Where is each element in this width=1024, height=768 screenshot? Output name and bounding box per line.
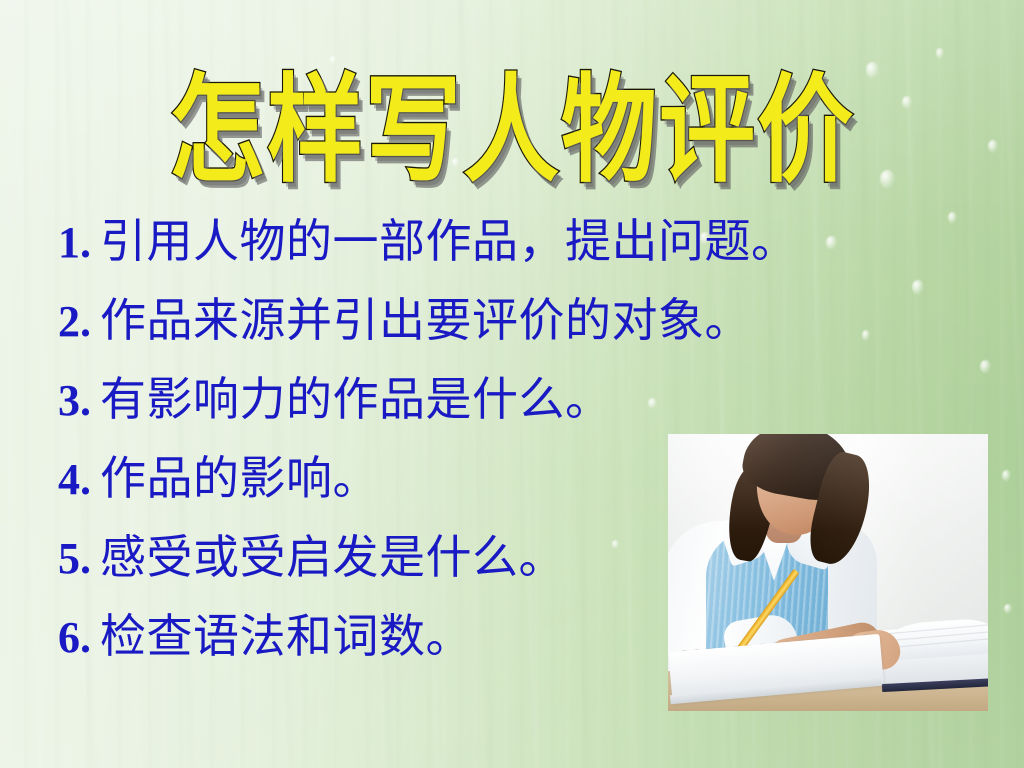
- list-item-text: 有影响力的作品是什么。: [100, 376, 612, 422]
- presentation-slide: 怎样写人物评价 1. 引用人物的一部作品，提出问题。 2. 作品来源并引出要评价…: [0, 0, 1024, 768]
- list-item-number: 3.: [58, 379, 91, 423]
- list-item-number: 5.: [58, 537, 91, 581]
- list-item: 1. 引用人物的一部作品，提出问题。: [58, 218, 958, 297]
- list-item-number: 2.: [58, 300, 91, 344]
- student-writing-photo: [668, 434, 988, 711]
- list-item-text: 引用人物的一部作品，提出问题。: [100, 218, 798, 264]
- list-item-text: 作品的影响。: [100, 455, 379, 501]
- list-item-number: 4.: [58, 458, 91, 502]
- photo-top-highlight: [668, 434, 988, 711]
- list-item-number: 1.: [58, 221, 91, 265]
- list-item-text: 检查语法和词数。: [100, 613, 472, 659]
- list-item-text: 感受或受启发是什么。: [100, 534, 565, 580]
- list-item-number: 6.: [58, 616, 91, 660]
- list-item-text: 作品来源并引出要评价的对象。: [100, 297, 751, 343]
- list-item: 2. 作品来源并引出要评价的对象。: [58, 297, 958, 376]
